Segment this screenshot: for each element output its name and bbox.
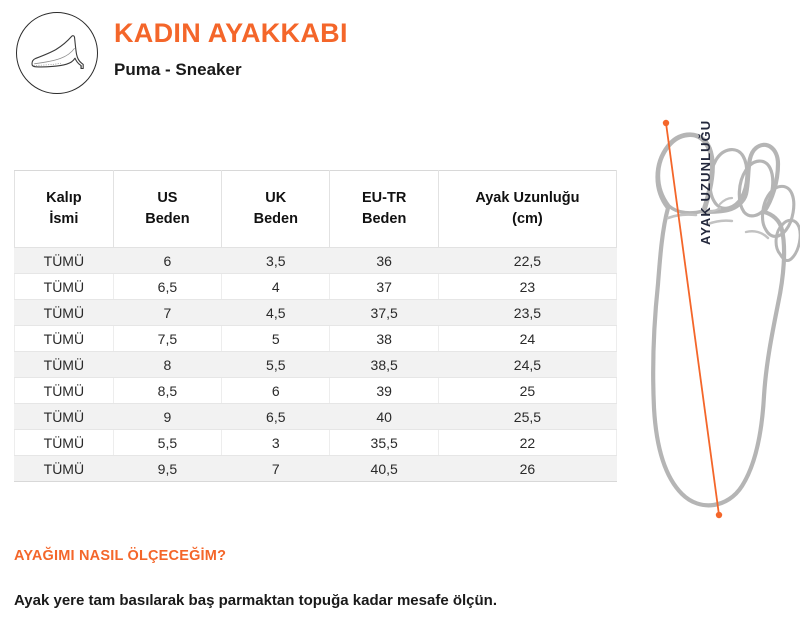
column-header-kalip-ismi: Kalıp İsmi (15, 171, 114, 248)
cell-eu-tr-beden: 38 (330, 326, 438, 352)
cell-uk-beden: 4,5 (222, 300, 330, 326)
cell-eu-tr-beden: 35,5 (330, 430, 438, 456)
header-line-1: UK (265, 190, 286, 206)
cell-eu-tr-beden: 38,5 (330, 352, 438, 378)
table-row: TÜMÜ6,543723 (15, 274, 617, 300)
column-header-us-beden: US Beden (113, 171, 221, 248)
table-header: Kalıp İsmi US Beden UK Beden EU-TR Beden… (15, 171, 617, 248)
cell-eu-tr-beden: 40,5 (330, 456, 438, 482)
cell-us-beden: 8 (113, 352, 221, 378)
crease-4 (746, 231, 768, 238)
header-line-1: EU-TR (362, 190, 406, 206)
cell-ayak-uzunlugu: 22 (438, 430, 616, 456)
table-row: TÜMÜ96,54025,5 (15, 404, 617, 430)
table-row: TÜMÜ63,53622,5 (15, 248, 617, 274)
cell-ayak-uzunlugu: 23,5 (438, 300, 616, 326)
table-row: TÜMÜ8,563925 (15, 378, 617, 404)
header-line-2: (cm) (512, 211, 543, 227)
cell-ayak-uzunlugu: 24 (438, 326, 616, 352)
table-body: TÜMÜ63,53622,5TÜMÜ6,543723TÜMÜ74,537,523… (15, 248, 617, 482)
measure-endpoint-bottom (716, 512, 722, 518)
table-row: TÜMÜ85,538,524,5 (15, 352, 617, 378)
crease-3 (720, 198, 732, 204)
cell-ayak-uzunlugu: 25 (438, 378, 616, 404)
size-chart-table: Kalıp İsmi US Beden UK Beden EU-TR Beden… (14, 170, 617, 482)
cell-kalip-ismi: TÜMÜ (15, 248, 114, 274)
cell-uk-beden: 6 (222, 378, 330, 404)
footer-instruction: Ayak yere tam basılarak baş parmaktan to… (14, 592, 497, 609)
header-line-1: Kalıp (46, 190, 81, 206)
cell-uk-beden: 6,5 (222, 404, 330, 430)
column-header-uk-beden: UK Beden (222, 171, 330, 248)
header-line-2: Beden (145, 211, 189, 227)
page-header: KADIN AYAKKABI Puma - Sneaker (0, 0, 800, 110)
cell-kalip-ismi: TÜMÜ (15, 274, 114, 300)
cell-eu-tr-beden: 39 (330, 378, 438, 404)
cell-us-beden: 8,5 (113, 378, 221, 404)
column-header-ayak-uzunlugu: Ayak Uzunluğu (cm) (438, 171, 616, 248)
cell-us-beden: 7 (113, 300, 221, 326)
cell-kalip-ismi: TÜMÜ (15, 430, 114, 456)
cell-kalip-ismi: TÜMÜ (15, 404, 114, 430)
cell-uk-beden: 5 (222, 326, 330, 352)
measure-label: AYAK UZUNLUĞU (698, 85, 713, 245)
sole-outline (653, 134, 784, 505)
high-heel-shoe-icon (26, 31, 90, 79)
cell-us-beden: 6 (113, 248, 221, 274)
shoe-logo-circle (16, 12, 98, 94)
cell-uk-beden: 7 (222, 456, 330, 482)
cell-ayak-uzunlugu: 24,5 (438, 352, 616, 378)
cell-kalip-ismi: TÜMÜ (15, 378, 114, 404)
cell-uk-beden: 3 (222, 430, 330, 456)
cell-kalip-ismi: TÜMÜ (15, 456, 114, 482)
cell-eu-tr-beden: 37 (330, 274, 438, 300)
measure-endpoint-top (663, 120, 669, 126)
cell-uk-beden: 5,5 (222, 352, 330, 378)
cell-kalip-ismi: TÜMÜ (15, 352, 114, 378)
cell-kalip-ismi: TÜMÜ (15, 300, 114, 326)
table-row: TÜMÜ7,553824 (15, 326, 617, 352)
table-header-row: Kalıp İsmi US Beden UK Beden EU-TR Beden… (15, 171, 617, 248)
cell-ayak-uzunlugu: 26 (438, 456, 616, 482)
header-line-1: US (157, 190, 177, 206)
crease-1 (668, 215, 696, 218)
table-row: TÜMÜ74,537,523,5 (15, 300, 617, 326)
header-line-1: Ayak Uzunluğu (475, 190, 579, 206)
header-line-2: İsmi (49, 211, 78, 227)
footer-question: AYAĞIMI NASIL ÖLÇECEĞİM? (14, 548, 226, 564)
cell-kalip-ismi: TÜMÜ (15, 326, 114, 352)
cell-eu-tr-beden: 36 (330, 248, 438, 274)
cell-uk-beden: 3,5 (222, 248, 330, 274)
cell-ayak-uzunlugu: 22,5 (438, 248, 616, 274)
table-row: TÜMÜ5,5335,522 (15, 430, 617, 456)
table-row: TÜMÜ9,5740,526 (15, 456, 617, 482)
cell-ayak-uzunlugu: 23 (438, 274, 616, 300)
cell-us-beden: 9 (113, 404, 221, 430)
header-line-2: Beden (254, 211, 298, 227)
column-header-eu-tr-beden: EU-TR Beden (330, 171, 438, 248)
cell-us-beden: 6,5 (113, 274, 221, 300)
page-subtitle: Puma - Sneaker (114, 60, 242, 80)
cell-uk-beden: 4 (222, 274, 330, 300)
page-title: KADIN AYAKKABI (114, 18, 348, 49)
cell-us-beden: 5,5 (113, 430, 221, 456)
cell-us-beden: 7,5 (113, 326, 221, 352)
cell-us-beden: 9,5 (113, 456, 221, 482)
cell-eu-tr-beden: 40 (330, 404, 438, 430)
header-line-2: Beden (362, 211, 406, 227)
cell-ayak-uzunlugu: 25,5 (438, 404, 616, 430)
cell-eu-tr-beden: 37,5 (330, 300, 438, 326)
